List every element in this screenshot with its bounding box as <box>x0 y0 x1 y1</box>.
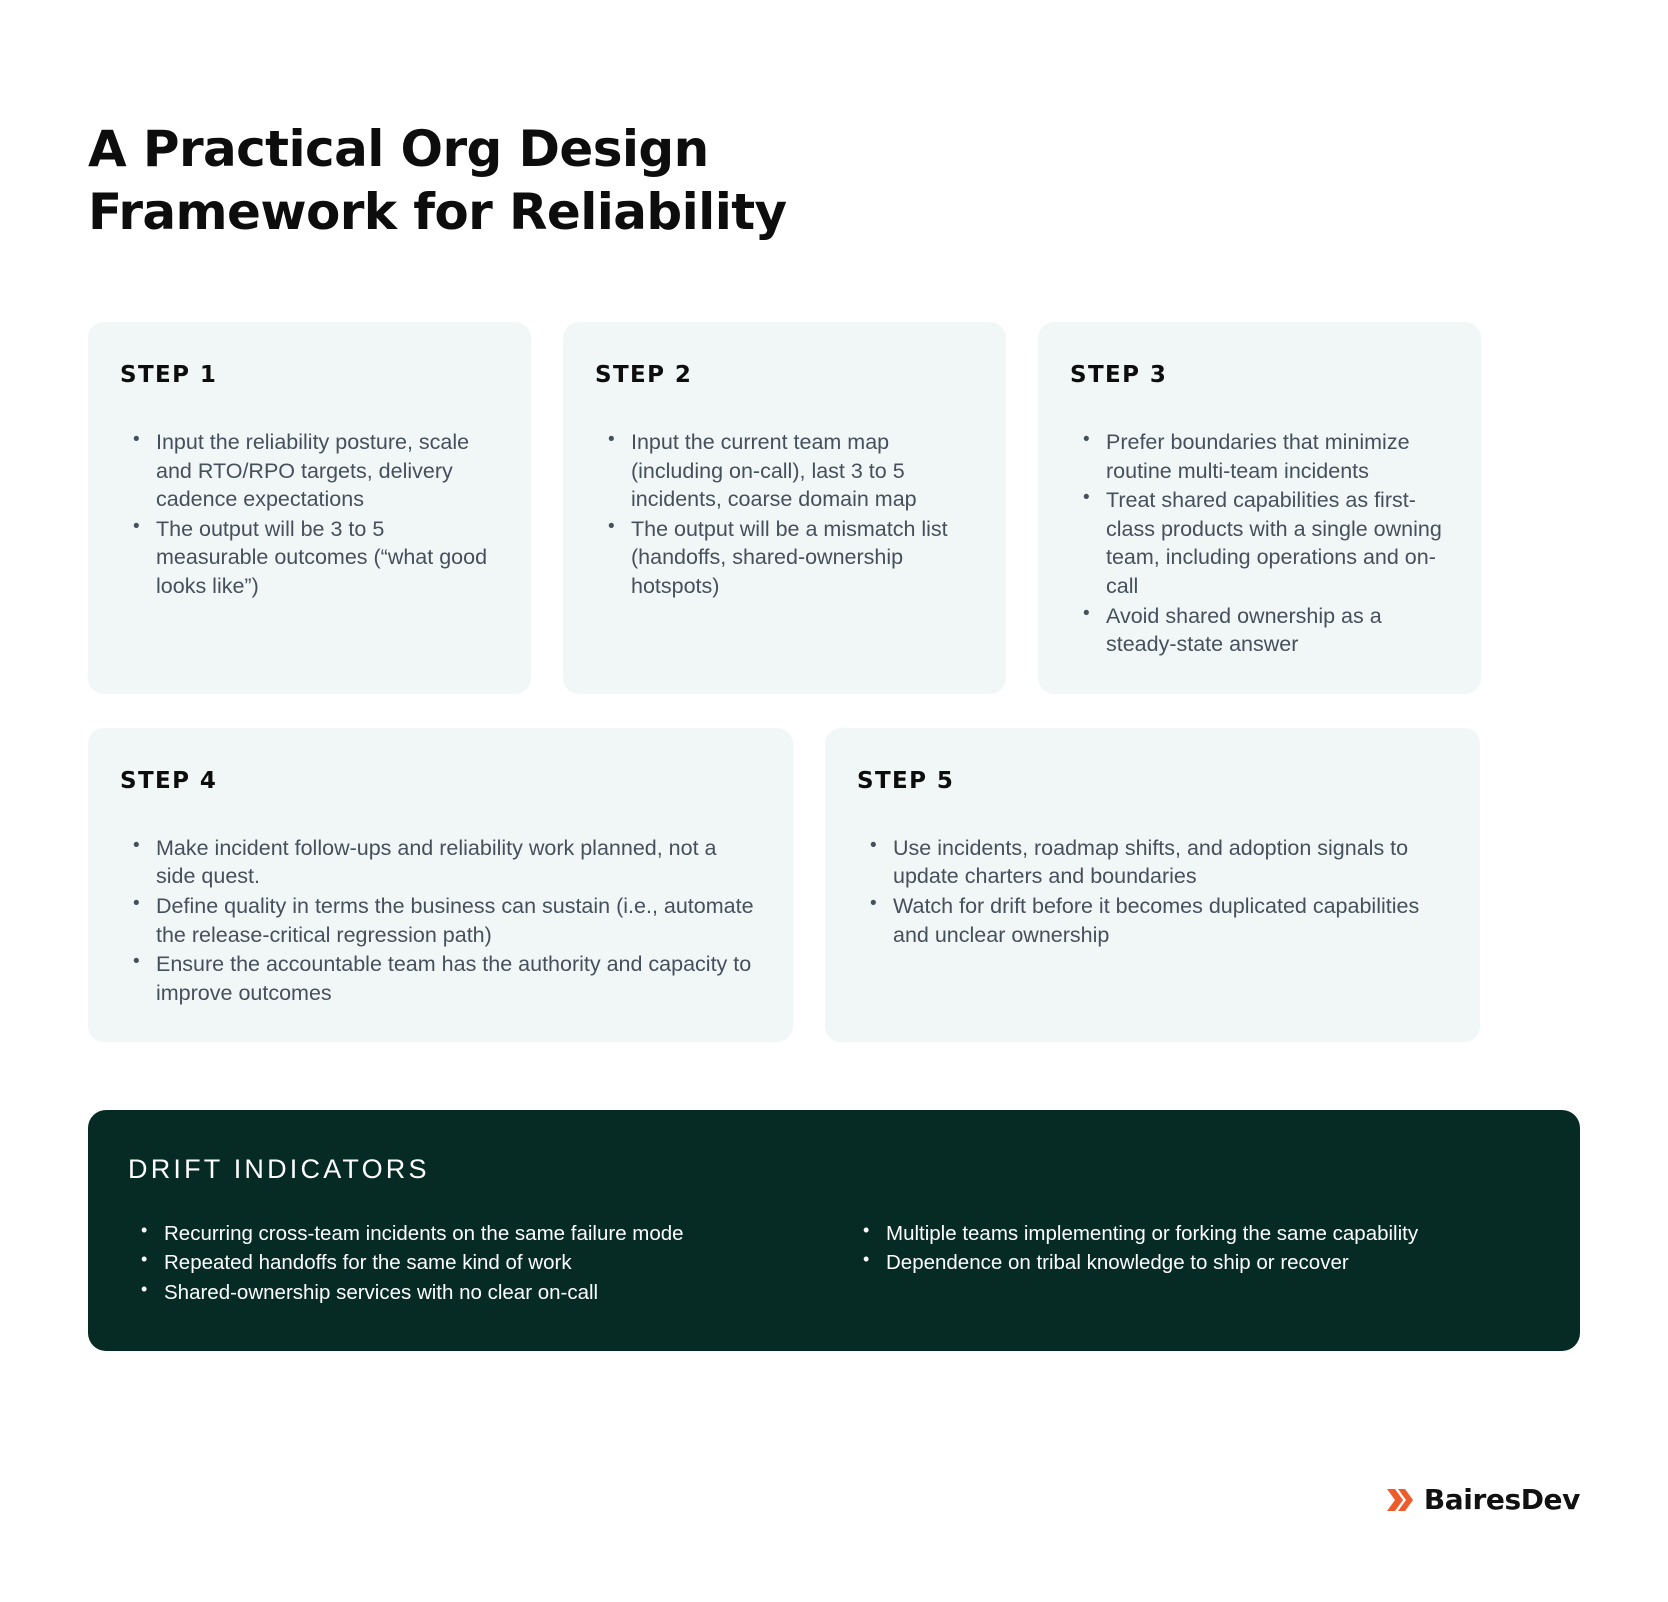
list-item: Use incidents, roadmap shifts, and adopt… <box>867 834 1446 891</box>
step-card-5: STEP 5 Use incidents, roadmap shifts, an… <box>825 728 1480 1043</box>
step-bullet-list-2: Input the current team map (including on… <box>593 428 972 601</box>
step-label-2: STEP 2 <box>593 362 972 388</box>
step-bullet-list-4: Make incident follow-ups and reliability… <box>118 834 759 1008</box>
list-item: Watch for drift before it becomes duplic… <box>867 892 1446 949</box>
list-item: Multiple teams implementing or forking t… <box>860 1219 1536 1248</box>
step-label-4: STEP 4 <box>118 768 759 794</box>
step-label-5: STEP 5 <box>855 768 1446 794</box>
drift-indicators-panel: DRIFT INDICATORS Recurring cross-team in… <box>88 1110 1580 1350</box>
bairesdev-mark-icon <box>1385 1485 1415 1515</box>
steps-row-top: STEP 1 Input the reliability posture, sc… <box>88 322 1580 694</box>
brand-logo: BairesDev <box>1385 1483 1580 1516</box>
list-item: Ensure the accountable team has the auth… <box>130 950 759 1007</box>
steps-row-bottom: STEP 4 Make incident follow-ups and reli… <box>88 728 1580 1043</box>
drift-indicators-columns: Recurring cross-team incidents on the sa… <box>126 1219 1536 1306</box>
infographic-page: A Practical Org Design Framework for Rel… <box>0 0 1668 1602</box>
drift-column-left: Recurring cross-team incidents on the sa… <box>126 1219 806 1306</box>
page-title-line-2: Framework for Reliability <box>88 183 787 241</box>
list-item: Input the current team map (including on… <box>605 428 972 514</box>
step-card-4: STEP 4 Make incident follow-ups and reli… <box>88 728 793 1043</box>
step-card-3: STEP 3 Prefer boundaries that minimize r… <box>1038 322 1481 694</box>
step-bullet-list-1: Input the reliability posture, scale and… <box>118 428 497 601</box>
list-item: Shared-ownership services with no clear … <box>138 1278 806 1307</box>
page-title: A Practical Org Design Framework for Rel… <box>88 0 848 244</box>
drift-indicators-title: DRIFT INDICATORS <box>126 1154 1536 1185</box>
drift-bullet-list-right: Multiple teams implementing or forking t… <box>848 1219 1536 1277</box>
list-item: Avoid shared ownership as a steady-state… <box>1080 602 1447 659</box>
drift-bullet-list-left: Recurring cross-team incidents on the sa… <box>126 1219 806 1306</box>
step-card-1: STEP 1 Input the reliability posture, sc… <box>88 322 531 694</box>
list-item: Define quality in terms the business can… <box>130 892 759 949</box>
list-item: Recurring cross-team incidents on the sa… <box>138 1219 806 1248</box>
step-label-1: STEP 1 <box>118 362 497 388</box>
list-item: Make incident follow-ups and reliability… <box>130 834 759 891</box>
step-card-2: STEP 2 Input the current team map (inclu… <box>563 322 1006 694</box>
list-item: Repeated handoffs for the same kind of w… <box>138 1248 806 1277</box>
brand-name: BairesDev <box>1424 1483 1580 1516</box>
step-bullet-list-3: Prefer boundaries that minimize routine … <box>1068 428 1447 659</box>
list-item: Input the reliability posture, scale and… <box>130 428 497 514</box>
list-item: Treat shared capabilities as first-class… <box>1080 486 1447 600</box>
page-title-line-1: A Practical Org Design <box>88 120 709 178</box>
list-item: Dependence on tribal knowledge to ship o… <box>860 1248 1536 1277</box>
step-bullet-list-5: Use incidents, roadmap shifts, and adopt… <box>855 834 1446 949</box>
list-item: The output will be a mismatch list (hand… <box>605 515 972 601</box>
list-item: Prefer boundaries that minimize routine … <box>1080 428 1447 485</box>
list-item: The output will be 3 to 5 measurable out… <box>130 515 497 601</box>
drift-column-right: Multiple teams implementing or forking t… <box>848 1219 1536 1306</box>
step-label-3: STEP 3 <box>1068 362 1447 388</box>
